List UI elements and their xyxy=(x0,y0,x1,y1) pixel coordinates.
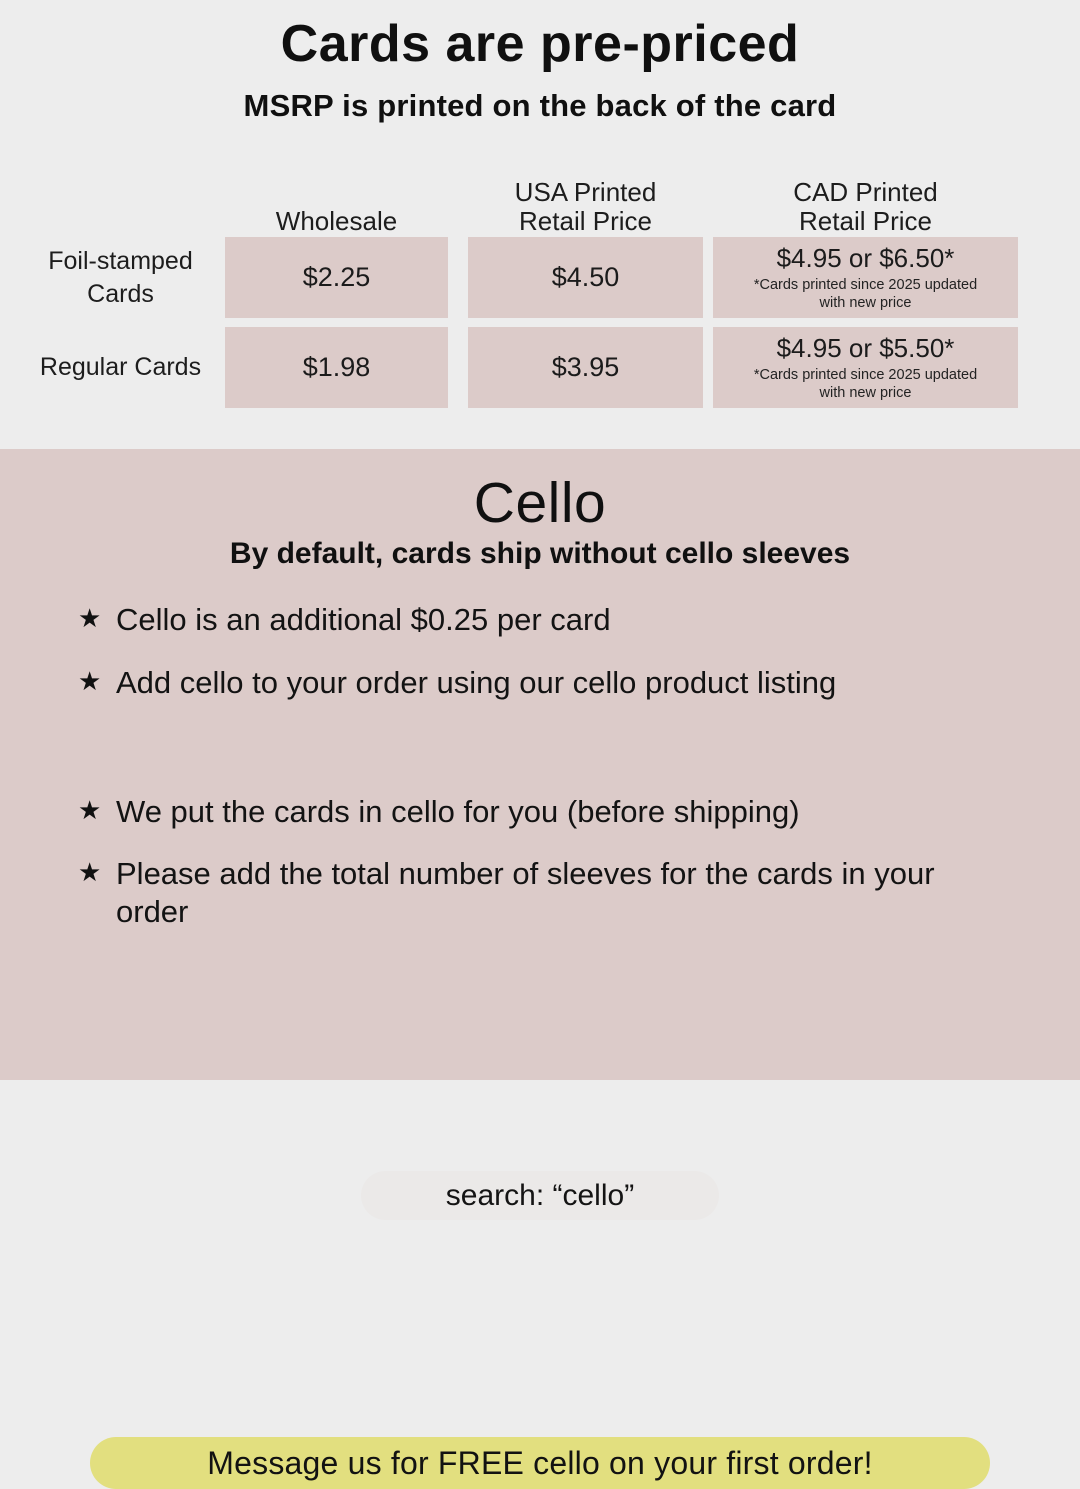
cello-heading: Cello xyxy=(0,470,1080,536)
row-label-foil-stamped-line1: Foil-stamped xyxy=(48,245,193,278)
cell-regular-usa-retail: $3.95 xyxy=(468,327,703,408)
table-row-divider xyxy=(0,318,1080,327)
cell-regular-cad-retail-value: $4.95 or $5.50* xyxy=(777,333,955,364)
row-label-regular-cards: Regular Cards xyxy=(18,327,223,408)
search-pill-spacer xyxy=(78,727,1008,793)
star-bullet-icon: ★ xyxy=(78,601,116,636)
column-header-usa-retail: USA Printed Retail Price xyxy=(468,178,703,237)
pricing-section: Cards are pre-priced MSRP is printed on … xyxy=(0,0,1080,449)
cell-regular-cad-retail: $4.95 or $5.50* *Cards printed since 202… xyxy=(713,327,1018,408)
column-header-usa-line2: Retail Price xyxy=(468,207,703,237)
star-bullet-icon: ★ xyxy=(78,664,116,699)
page-title: Cards are pre-priced xyxy=(0,14,1080,74)
free-cello-promo-banner[interactable]: Message us for FREE cello on your first … xyxy=(90,1437,990,1489)
column-header-cad-retail: CAD Printed Retail Price xyxy=(713,178,1018,237)
column-header-usa-line1: USA Printed xyxy=(468,178,703,208)
star-bullet-icon: ★ xyxy=(78,793,116,828)
cello-subheading: By default, cards ship without cello sle… xyxy=(0,537,1080,571)
column-header-wholesale: Wholesale xyxy=(225,207,448,237)
cell-regular-wholesale: $1.98 xyxy=(225,327,448,408)
list-item-label: Add cello to your order using our cello … xyxy=(116,664,1008,702)
list-item-label: Cello is an additional $0.25 per card xyxy=(116,601,1008,639)
free-cello-promo-label: Message us for FREE cello on your first … xyxy=(207,1445,872,1482)
star-bullet-icon: ★ xyxy=(78,855,116,890)
row-label-foil-stamped: Foil-stamped Cards xyxy=(18,237,223,318)
cell-regular-cad-footnote-line2: with new price xyxy=(820,385,912,401)
list-item: ★ Add cello to your order using our cell… xyxy=(78,664,1008,702)
cell-foil-cad-footnote-line1: *Cards printed since 2025 updated xyxy=(754,277,977,293)
cell-regular-cad-footnote: *Cards printed since 2025 updated with n… xyxy=(754,367,977,402)
column-header-cad-line2: Retail Price xyxy=(713,207,1018,237)
table-header-row: Wholesale USA Printed Retail Price CAD P… xyxy=(0,168,1080,237)
cello-bullet-list: ★ Cello is an additional $0.25 per card … xyxy=(78,601,1008,931)
infographic-page: Cards are pre-priced MSRP is printed on … xyxy=(0,0,1080,1080)
list-item: ★ We put the cards in cello for you (bef… xyxy=(78,793,1008,831)
row-label-regular-cards-line1: Regular Cards xyxy=(40,351,201,384)
list-item-label: We put the cards in cello for you (befor… xyxy=(116,793,1008,831)
table-row: Foil-stamped Cards $2.25 $4.50 $4.95 or … xyxy=(0,237,1080,318)
column-header-wholesale-label: Wholesale xyxy=(276,206,397,236)
cell-foil-wholesale: $2.25 xyxy=(225,237,448,318)
cell-foil-wholesale-value: $2.25 xyxy=(303,262,371,293)
cell-foil-cad-footnote: *Cards printed since 2025 updated with n… xyxy=(754,277,977,312)
cello-section: Cello By default, cards ship without cel… xyxy=(0,449,1080,1080)
cell-foil-cad-retail-value: $4.95 or $6.50* xyxy=(777,243,955,274)
cell-foil-usa-retail: $4.50 xyxy=(468,237,703,318)
cell-foil-usa-retail-value: $4.50 xyxy=(552,262,620,293)
list-item: ★ Cello is an additional $0.25 per card xyxy=(78,601,1008,639)
table-row: Regular Cards $1.98 $3.95 $4.95 or $5.50… xyxy=(0,327,1080,408)
cell-foil-cad-retail: $4.95 or $6.50* *Cards printed since 202… xyxy=(713,237,1018,318)
cell-regular-usa-retail-value: $3.95 xyxy=(552,352,620,383)
pricing-table: Wholesale USA Printed Retail Price CAD P… xyxy=(0,168,1080,408)
page-subtitle: MSRP is printed on the back of the card xyxy=(0,88,1080,124)
search-hint-label: search: “cello” xyxy=(446,1179,634,1213)
list-item-label: Please add the total number of sleeves f… xyxy=(116,855,1008,931)
list-item: ★ Please add the total number of sleeves… xyxy=(78,855,1008,931)
row-label-foil-stamped-line2: Cards xyxy=(48,278,193,311)
cell-regular-cad-footnote-line1: *Cards printed since 2025 updated xyxy=(754,367,977,383)
cell-foil-cad-footnote-line2: with new price xyxy=(820,295,912,311)
column-header-cad-line1: CAD Printed xyxy=(713,178,1018,208)
cell-regular-wholesale-value: $1.98 xyxy=(303,352,371,383)
search-hint-pill[interactable]: search: “cello” xyxy=(361,1171,719,1220)
